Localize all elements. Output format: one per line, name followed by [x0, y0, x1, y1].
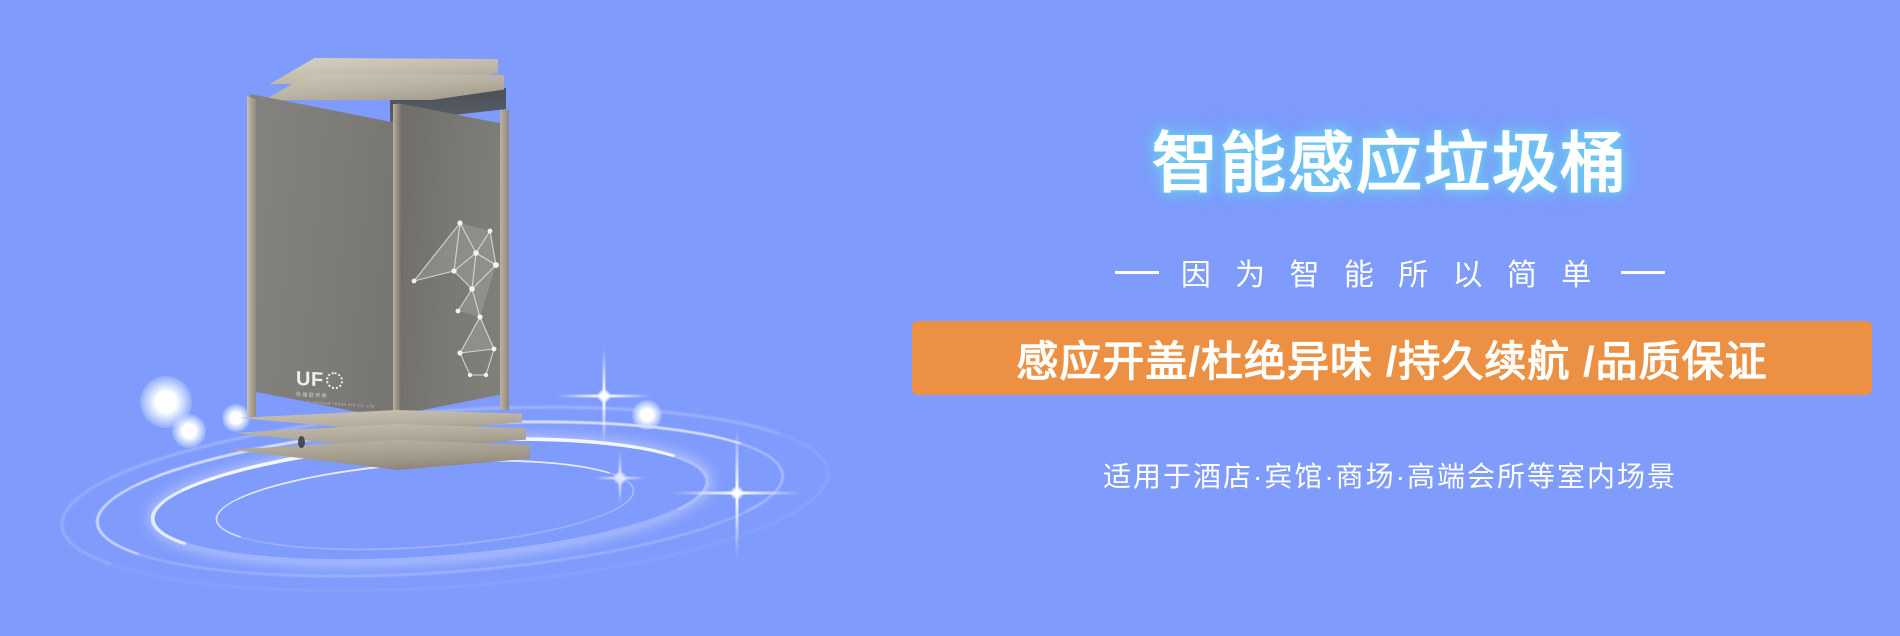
bin-corner-pillar-center [393, 104, 402, 416]
glow-dot-icon [172, 414, 206, 448]
sparkle-core [613, 471, 627, 485]
subheadline-rule-right [1621, 271, 1665, 274]
bin-corner-pillar-left [247, 96, 256, 418]
sparkle-core [597, 389, 611, 403]
usage-scene-text: 适用于酒店·宾馆·商场·高端会所等室内场景 [880, 455, 1900, 495]
bin-logo-wordmark: UF [296, 370, 370, 393]
bin-logo-letters: UF [296, 370, 324, 390]
subheadline-row: 因 为 智 能 所 以 简 单 [880, 250, 1900, 294]
sparkle-star-icon [594, 452, 646, 504]
product-stage: UF 优福欧环保 SMART SENSOR TRASH BIN CO.,LTD [0, 0, 880, 636]
subheadline-rule-left [1115, 271, 1159, 274]
bin-corner-pillar-right [500, 110, 509, 410]
bin-face-side [398, 103, 508, 415]
sparkle-star-icon [672, 428, 802, 558]
feature-highlight-strip: 感应开盖/杜绝异味 /持久续航 /品质保证 [912, 321, 1872, 395]
bin-logo-ring-icon [326, 372, 343, 390]
low-poly-network-graphic [398, 103, 508, 415]
sparkle-core [730, 486, 744, 500]
bin-sensor-icon [298, 436, 305, 448]
product-trash-bin: UF 优福欧环保 SMART SENSOR TRASH BIN CO.,LTD [250, 58, 550, 458]
copy-block: 智能感应垃圾桶 因 为 智 能 所 以 简 单 感应开盖/杜绝异味 /持久续航 … [880, 0, 1900, 636]
sparkle-star-icon [556, 348, 652, 444]
promo-banner: UF 优福欧环保 SMART SENSOR TRASH BIN CO.,LTD [0, 0, 1900, 636]
bin-face-front: UF 优福欧环保 SMART SENSOR TRASH BIN CO.,LTD [250, 94, 398, 420]
subheadline-text: 因 为 智 能 所 以 简 单 [1181, 250, 1599, 294]
headline-title: 智能感应垃圾桶 [880, 124, 1900, 202]
feature-highlight-text: 感应开盖/杜绝异味 /持久续航 /品质保证 [1016, 328, 1767, 389]
